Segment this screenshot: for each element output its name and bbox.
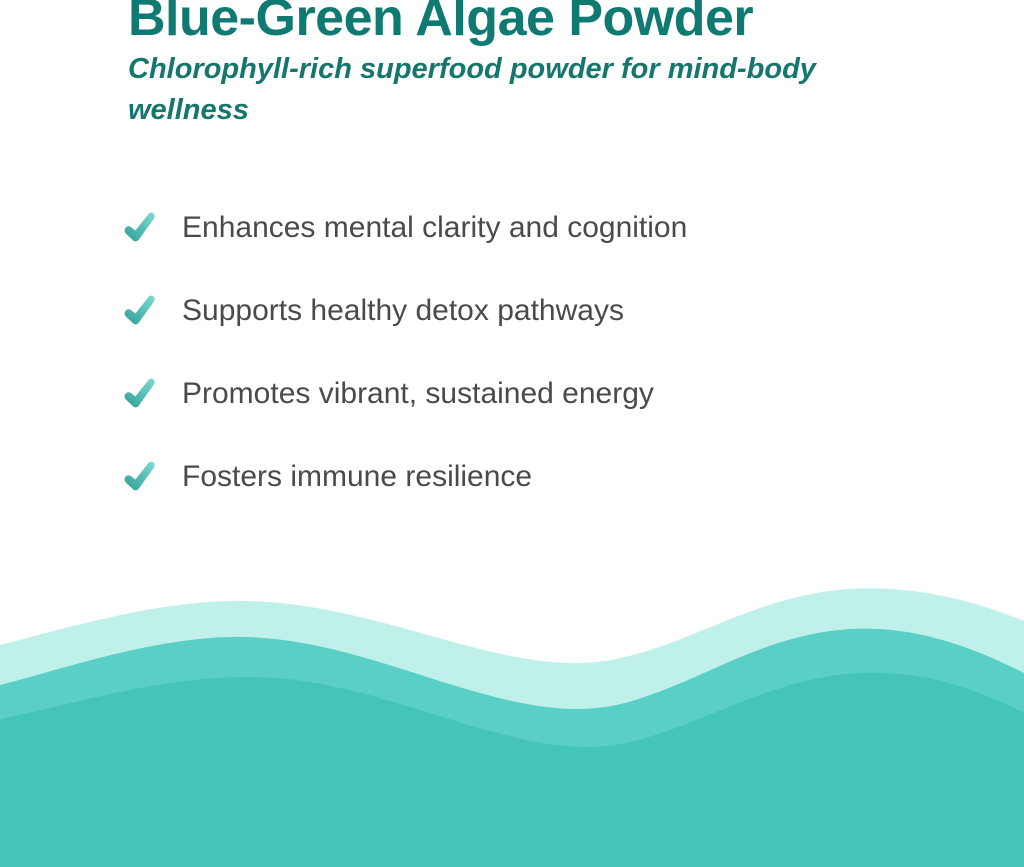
page-title: Blue-Green Algae Powder bbox=[0, 0, 1024, 45]
check-icon bbox=[122, 376, 158, 412]
check-icon bbox=[122, 459, 158, 495]
check-icon bbox=[122, 210, 158, 246]
benefit-label: Supports healthy detox pathways bbox=[182, 294, 624, 327]
list-item: Promotes vibrant, sustained energy bbox=[0, 352, 1024, 435]
product-subtitle: Chlorophyll-rich superfood powder for mi… bbox=[0, 49, 868, 131]
list-item: Supports healthy detox pathways bbox=[0, 269, 1024, 352]
benefit-label: Fosters immune resilience bbox=[182, 460, 532, 493]
wave-decoration bbox=[0, 567, 1024, 867]
check-icon bbox=[122, 293, 158, 329]
list-item: Fosters immune resilience bbox=[0, 435, 1024, 518]
product-info-card: Blue-Green Algae Powder Chlorophyll-rich… bbox=[0, 0, 1024, 867]
content-block: Blue-Green Algae Powder Chlorophyll-rich… bbox=[0, 0, 1024, 135]
benefit-label: Enhances mental clarity and cognition bbox=[182, 211, 687, 244]
benefits-list: Enhances mental clarity and cognition Su… bbox=[0, 186, 1024, 518]
list-item: Enhances mental clarity and cognition bbox=[0, 186, 1024, 269]
benefit-label: Promotes vibrant, sustained energy bbox=[182, 377, 654, 410]
